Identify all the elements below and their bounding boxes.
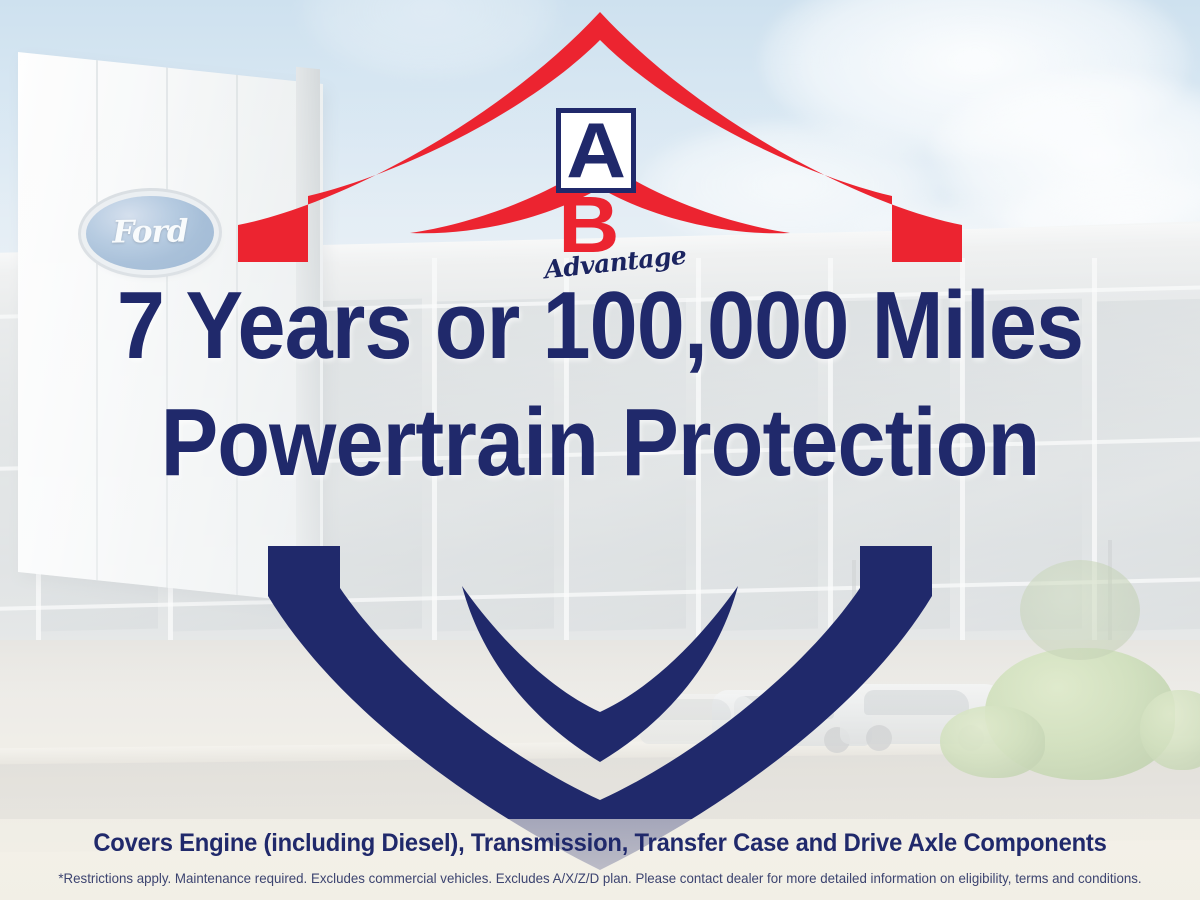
- coverage-text: Covers Engine (including Diesel), Transm…: [30, 829, 1170, 858]
- headline-line-1: 7 Years or 100,000 Miles: [60, 278, 1140, 373]
- headline-line-2: Powertrain Protection: [60, 395, 1140, 490]
- promo-banner: TON BLA: [0, 0, 1200, 900]
- headline-block: 7 Years or 100,000 Miles Powertrain Prot…: [0, 278, 1200, 490]
- disclaimer-text: *Restrictions apply. Maintenance require…: [30, 870, 1170, 886]
- footer: Covers Engine (including Diesel), Transm…: [0, 819, 1200, 900]
- logo-letter-a: A: [566, 119, 626, 183]
- ab-advantage-logo: A B Advantage: [556, 108, 648, 278]
- footer-band: Covers Engine (including Diesel), Transm…: [0, 819, 1200, 900]
